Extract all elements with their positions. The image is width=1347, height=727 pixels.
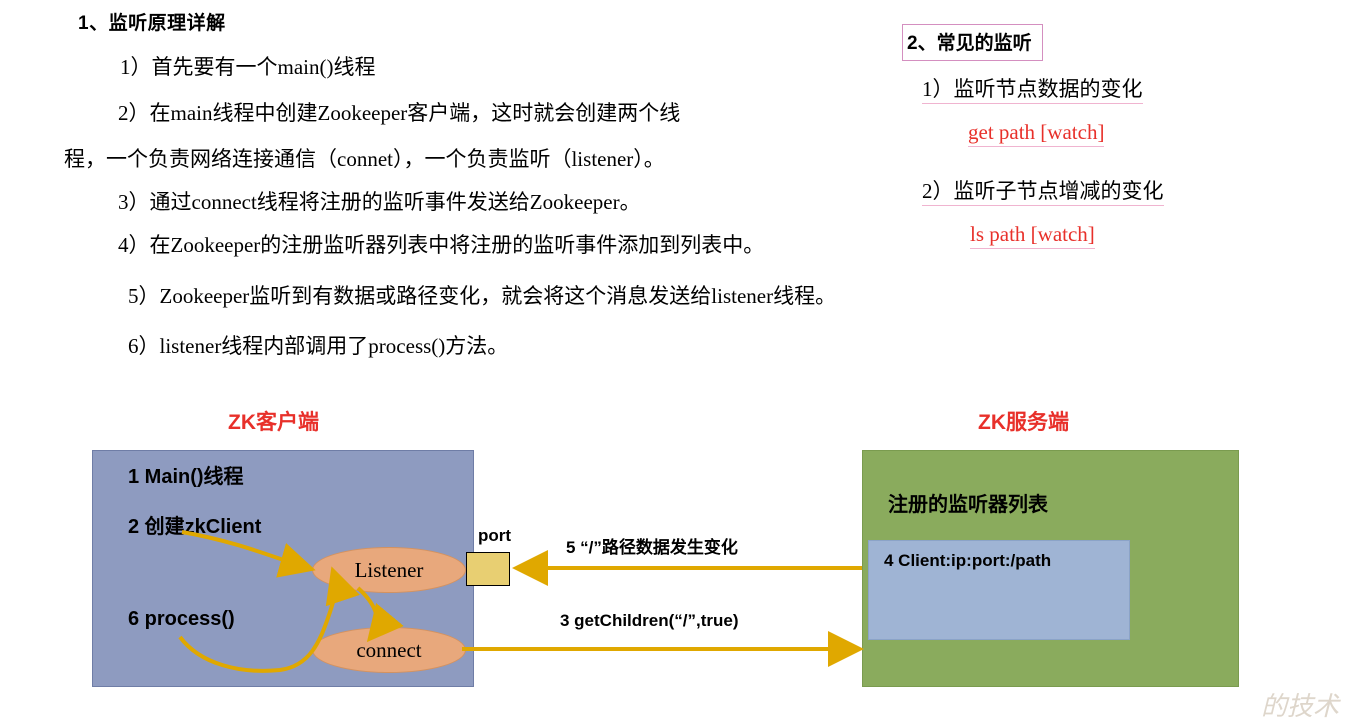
left-item-4: 4）在Zookeeper的注册监听器列表中将注册的监听事件添加到列表中。: [118, 232, 764, 258]
right-code-2: ls path [watch]: [970, 222, 1095, 249]
arrow-top-label: 5 “/”路径数据发生变化: [566, 533, 738, 558]
client-step-2-label: 2 创建zkClient: [128, 510, 261, 539]
client-step-1-label: 1 Main()线程: [128, 460, 244, 489]
listener-thread-label: Listener: [355, 558, 424, 583]
right-code-1: get path [watch]: [968, 120, 1104, 147]
arrow-bottom-label: 3 getChildren(“/”,true): [560, 611, 739, 631]
right-code-2-text: ls path [watch]: [970, 222, 1095, 249]
left-item-6: 6）listener线程内部调用了process()方法。: [128, 333, 508, 359]
right-item-1: 1）监听节点数据的变化: [922, 76, 1143, 104]
right-heading: 2、常见的监听: [902, 24, 1043, 61]
watcher-entry-label: 4 Client:ip:port:/path: [884, 551, 1051, 571]
connect-thread-label: connect: [356, 638, 421, 663]
left-item-2: 2）在main线程中创建Zookeeper客户端，这时就会创建两个线: [118, 100, 680, 126]
right-item-1-text: 1）监听节点数据的变化: [922, 76, 1143, 104]
listener-thread-node: Listener: [312, 547, 466, 593]
left-item-5: 5）Zookeeper监听到有数据或路径变化，就会将这个消息发送给listene…: [128, 283, 836, 309]
left-item-1: 1）首先要有一个main()线程: [120, 54, 375, 80]
zookeeper-watch-diagram: ZK客户端 ZK服务端 1 Main()线程 2 创建zkClient 6 pr…: [0, 392, 1347, 727]
server-list-title: 注册的监听器列表: [888, 488, 1048, 517]
left-item-2-cont: 程，一个负责网络连接通信（connet），一个负责监听（listener）。: [64, 146, 665, 172]
right-heading-box: 2、常见的监听: [902, 24, 1043, 61]
watermark-text: 的技术: [1261, 686, 1339, 723]
left-heading: 1、监听原理详解: [78, 8, 226, 35]
right-code-1-text: get path [watch]: [968, 120, 1104, 147]
port-label: port: [478, 526, 511, 546]
client-side-title: ZK客户端: [228, 406, 319, 436]
right-item-2-text: 2）监听子节点增减的变化: [922, 178, 1164, 206]
right-item-2: 2）监听子节点增减的变化: [922, 178, 1164, 206]
connect-thread-node: connect: [312, 627, 466, 673]
left-item-3: 3）通过connect线程将注册的监听事件发送给Zookeeper。: [118, 189, 641, 215]
port-node: [466, 552, 510, 586]
server-side-title: ZK服务端: [978, 406, 1069, 436]
client-step-6-label: 6 process(): [128, 608, 235, 631]
